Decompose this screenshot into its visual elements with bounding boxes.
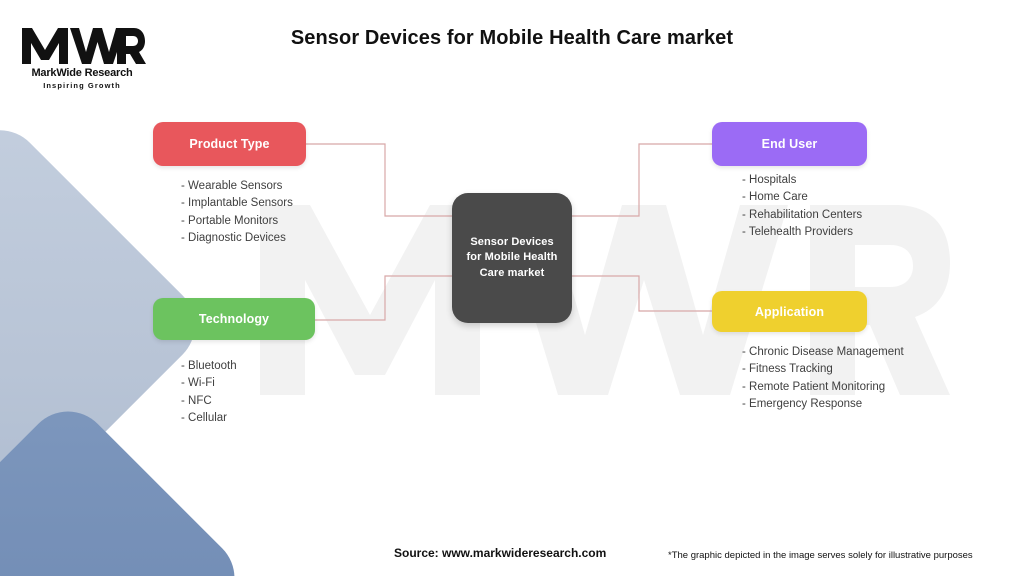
node-end-user[interactable]: End User	[712, 122, 867, 166]
disclaimer-text: *The graphic depicted in the image serve…	[668, 550, 973, 561]
center-node[interactable]: Sensor Devices for Mobile Health Care ma…	[452, 193, 572, 323]
list-item: - Fitness Tracking	[742, 361, 904, 378]
node-technology-label: Technology	[199, 312, 269, 326]
list-product-type: - Wearable Sensors - Implantable Sensors…	[181, 178, 293, 248]
source-text: Source: www.markwideresearch.com	[394, 546, 606, 560]
list-item: - Remote Patient Monitoring	[742, 379, 904, 396]
list-item: - Emergency Response	[742, 396, 904, 413]
list-item: - Wi-Fi	[181, 375, 237, 392]
list-item: - Home Care	[742, 189, 862, 206]
list-item: - Chronic Disease Management	[742, 344, 904, 361]
node-technology[interactable]: Technology	[153, 298, 315, 340]
list-item: - Cellular	[181, 410, 237, 427]
list-item: - Implantable Sensors	[181, 195, 293, 212]
list-application: - Chronic Disease Management - Fitness T…	[742, 344, 904, 414]
list-item: - Portable Monitors	[181, 213, 293, 230]
connector-end-user	[572, 144, 712, 216]
node-application-label: Application	[755, 305, 824, 319]
list-item: - Rehabilitation Centers	[742, 207, 862, 224]
node-product-type[interactable]: Product Type	[153, 122, 306, 166]
node-end-user-label: End User	[762, 137, 818, 151]
list-item: - Hospitals	[742, 172, 862, 189]
center-node-label: Sensor Devices for Mobile Health Care ma…	[452, 235, 572, 282]
list-technology: - Bluetooth - Wi-Fi - NFC - Cellular	[181, 358, 237, 428]
infographic-canvas: MarkWide Research Inspiring Growth Senso…	[0, 0, 1024, 576]
connector-technology	[315, 276, 452, 320]
node-application[interactable]: Application	[712, 291, 867, 332]
connector-product-type	[306, 144, 452, 216]
list-end-user: - Hospitals - Home Care - Rehabilitation…	[742, 172, 862, 242]
connector-application	[572, 276, 712, 311]
list-item: - Telehealth Providers	[742, 224, 862, 241]
list-item: - Wearable Sensors	[181, 178, 293, 195]
list-item: - Bluetooth	[181, 358, 237, 375]
node-product-type-label: Product Type	[189, 137, 269, 151]
list-item: - Diagnostic Devices	[181, 230, 293, 247]
list-item: - NFC	[181, 393, 237, 410]
